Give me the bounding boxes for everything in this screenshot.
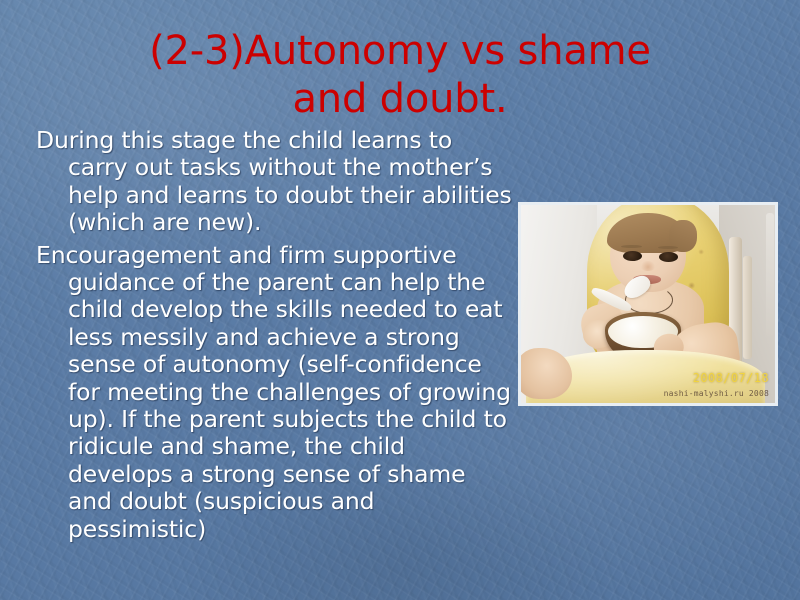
baby-eye-left [623,251,642,261]
presentation-slide: (2-3)Autonomy vs shame and doubt. During… [0,0,800,600]
photo-watermark: nashi-malyshi.ru 2008 [664,389,769,398]
photo-wall-panel [766,213,774,336]
high-chair-rail-secondary [743,256,752,359]
photo-date-stamp: 2008/07/18 [693,371,769,385]
body-paragraph-2: Encouragement and firm supportive guidan… [36,242,514,543]
slide-body: During this stage the child learns to ca… [36,127,514,543]
body-paragraph-1: During this stage the child learns to ca… [36,127,514,237]
baby-eyebrow-right [658,246,678,249]
photo-image: 2008/07/18 nashi-malyshi.ru 2008 [521,205,775,403]
baby-eye-right [659,252,678,262]
slide-title: (2-3)Autonomy vs shame and doubt. [60,27,740,123]
slide-photo: 2008/07/18 nashi-malyshi.ru 2008 [518,202,778,406]
